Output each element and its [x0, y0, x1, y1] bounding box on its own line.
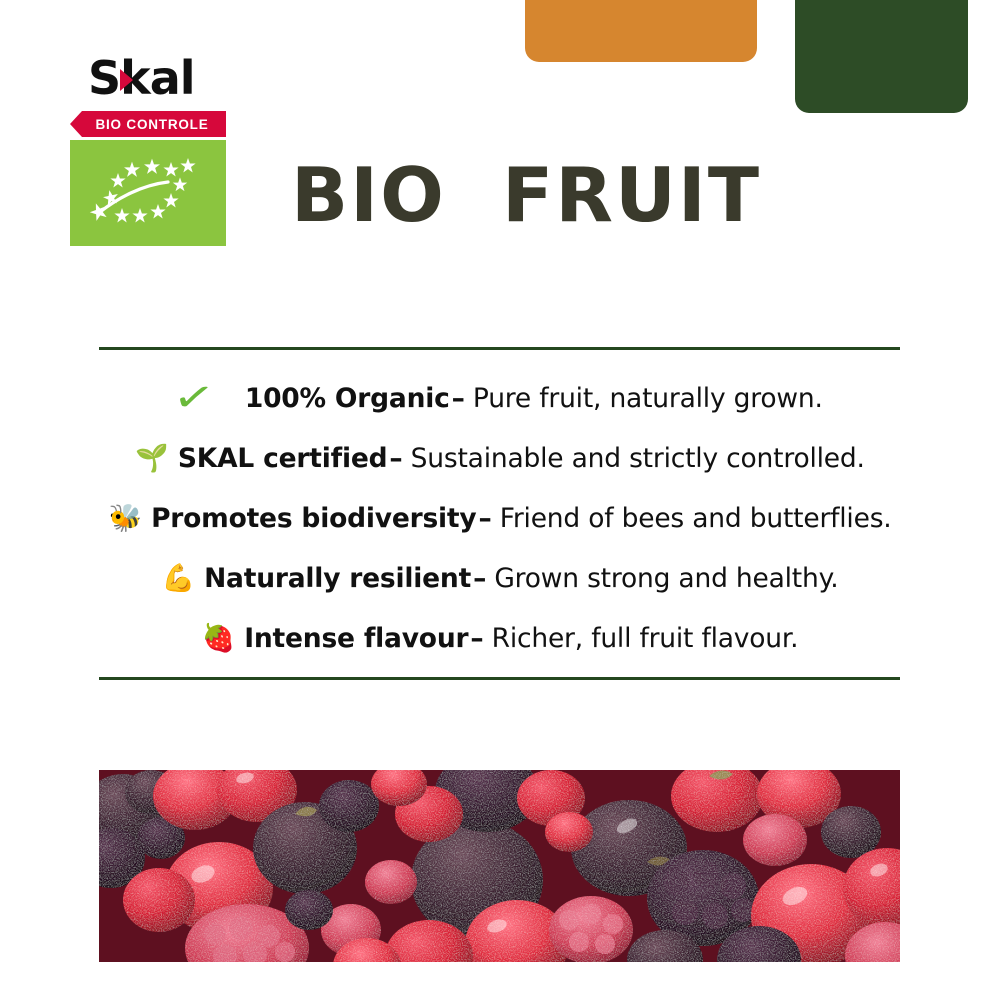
berry-photo — [99, 770, 900, 962]
feature-description: Friend of bees and butterflies. — [494, 503, 892, 534]
feature-term: Naturally resilient — [204, 563, 471, 594]
feature-term: SKAL certified — [178, 443, 388, 474]
eu-organic-leaf-icon — [70, 140, 226, 246]
seedling-icon: 🌱 — [135, 445, 169, 472]
feature-dash: – — [471, 563, 488, 594]
feature-item-organic: ✓ 100% Organic – Pure fruit, naturally g… — [0, 368, 1000, 428]
feature-item-biodiversity: 🐝 Promotes biodiversity – Friend of bees… — [0, 488, 1000, 548]
bee-icon: 🐝 — [108, 505, 142, 532]
feature-description: Pure fruit, naturally grown. — [467, 383, 823, 414]
feature-description: Sustainable and strictly controlled. — [405, 443, 865, 474]
feature-dash: – — [468, 623, 485, 654]
skal-wordmark: Skal — [70, 55, 226, 107]
divider-top — [99, 347, 900, 350]
feature-term: Promotes biodiversity — [151, 503, 476, 534]
skal-logo: Skal BIO CONTROLE — [70, 55, 226, 246]
decorative-block-green — [795, 0, 968, 113]
feature-description: Grown strong and healthy. — [488, 563, 838, 594]
page-title: BIO FRUIT — [291, 158, 761, 233]
feature-term: 100% Organic — [245, 383, 450, 414]
decorative-block-orange — [525, 0, 757, 62]
feature-item-skal-certified: 🌱 SKAL certified – Sustainable and stric… — [0, 428, 1000, 488]
feature-dash: – — [476, 503, 493, 534]
feature-term: Intense flavour — [244, 623, 468, 654]
feature-dash: – — [450, 383, 467, 414]
feature-dash: – — [387, 443, 404, 474]
feature-list: ✓ 100% Organic – Pure fruit, naturally g… — [0, 368, 1000, 668]
feature-description: Richer, full fruit flavour. — [486, 623, 799, 654]
strawberry-icon: 🍓 — [202, 625, 236, 652]
feature-item-resilient: 💪 Naturally resilient – Grown strong and… — [0, 548, 1000, 608]
divider-bottom — [99, 677, 900, 680]
check-mark-icon: ✓ — [171, 376, 218, 419]
flexed-biceps-icon: 💪 — [161, 565, 195, 592]
feature-item-flavour: 🍓 Intense flavour – Richer, full fruit f… — [0, 608, 1000, 668]
bio-controle-banner: BIO CONTROLE — [70, 111, 226, 137]
